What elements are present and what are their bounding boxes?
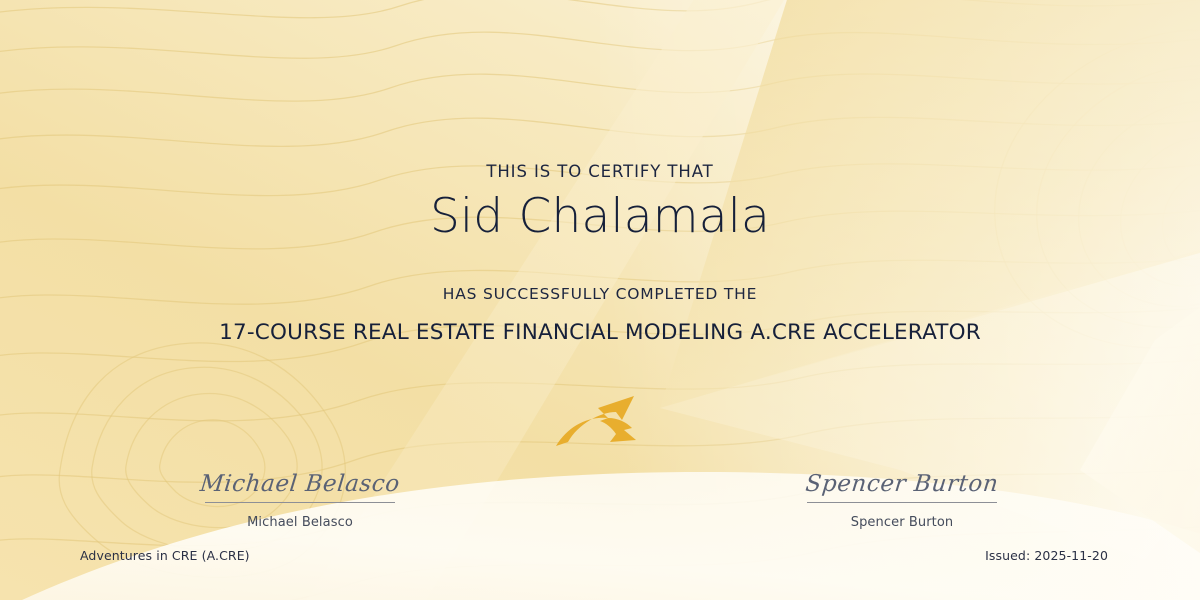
signature-script-right: Spencer Burton — [785, 468, 1018, 500]
signature-rule-right — [807, 502, 997, 503]
signature-printed-name-left: Michael Belasco — [185, 515, 415, 530]
recipient-name: Sid Chalamala — [0, 188, 1200, 247]
course-title: 17-COURSE REAL ESTATE FINANCIAL MODELING… — [0, 320, 1200, 345]
signature-script-left: Michael Belasco — [183, 468, 416, 500]
signature-block-right: Spencer Burton Spencer Burton — [787, 468, 1017, 530]
completed-line: HAS SUCCESSFULLY COMPLETED THE — [0, 285, 1200, 303]
signature-rule-left — [205, 502, 395, 503]
footer-issuer: Adventures in CRE (A.CRE) — [80, 548, 250, 563]
signature-printed-name-right: Spencer Burton — [787, 515, 1017, 530]
acre-logo — [548, 390, 652, 454]
certify-line: THIS IS TO CERTIFY THAT — [0, 162, 1200, 181]
signature-block-left: Michael Belasco Michael Belasco — [185, 468, 415, 530]
footer-issued-date: Issued: 2025-11-20 — [985, 548, 1108, 563]
certificate: THIS IS TO CERTIFY THAT Sid Chalamala HA… — [0, 0, 1200, 600]
acre-arrow-swoosh-icon — [548, 390, 652, 454]
